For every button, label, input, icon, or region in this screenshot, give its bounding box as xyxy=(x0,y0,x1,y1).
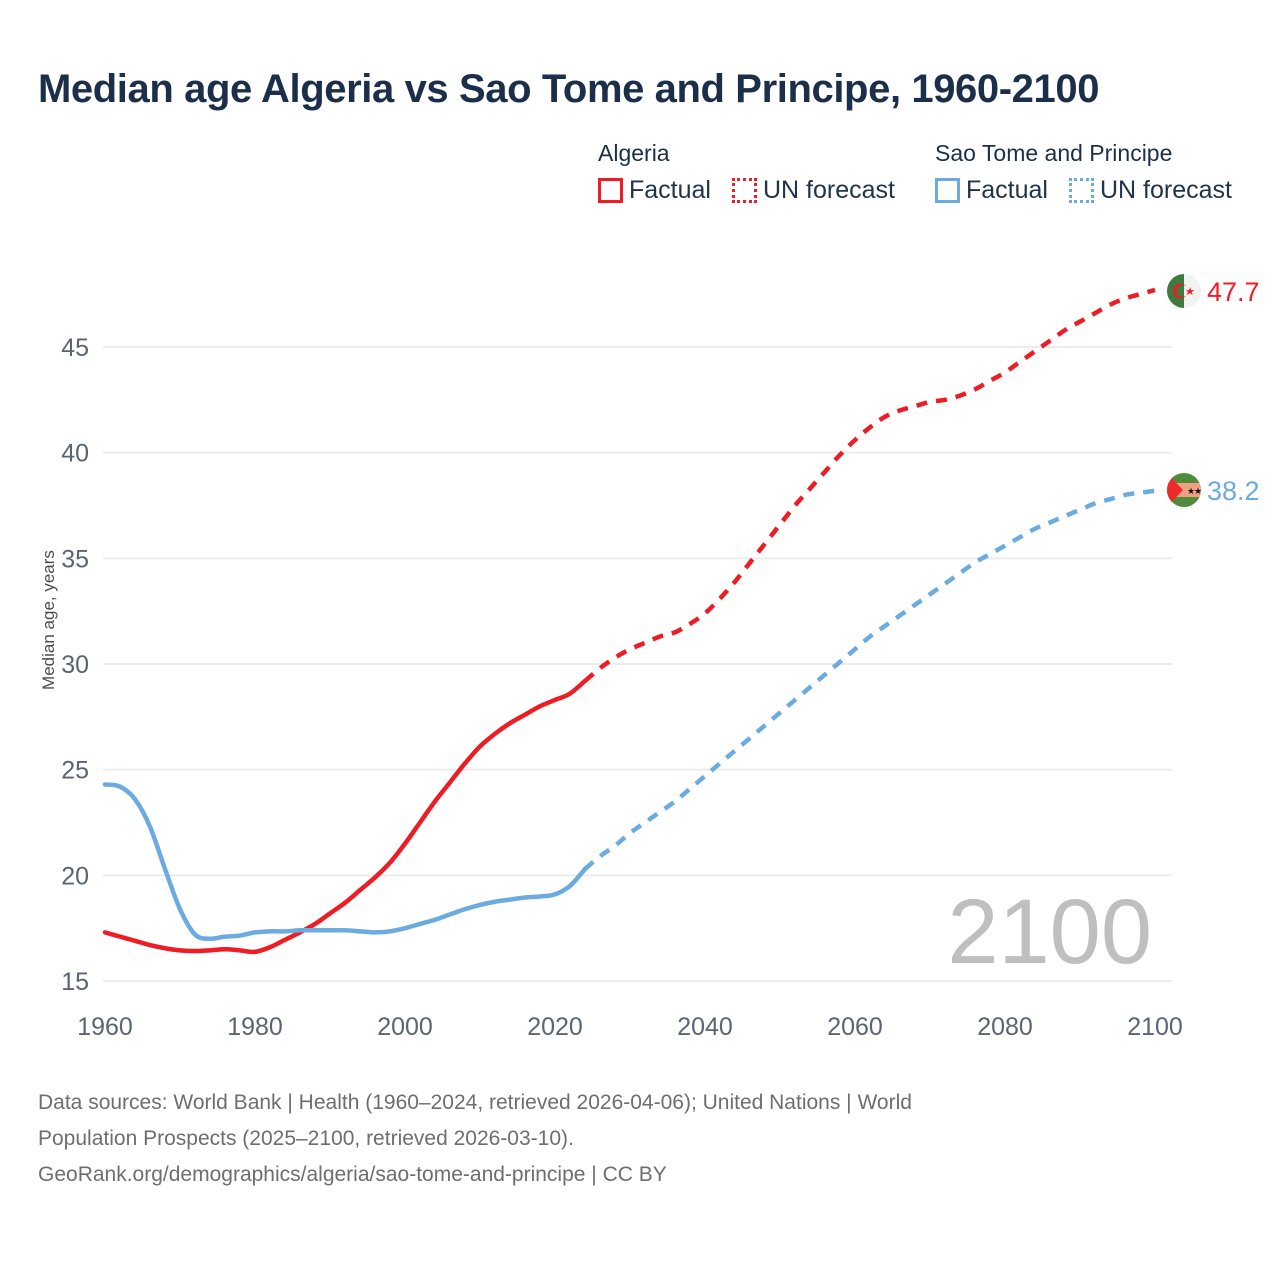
year-watermark: 2100 xyxy=(947,881,1152,983)
x-tick-label: 2080 xyxy=(977,1013,1033,1041)
series-lines xyxy=(105,290,1155,952)
footer-line-3: GeoRank.org/demographics/algeria/sao-tom… xyxy=(38,1158,1238,1192)
y-tick-label: 35 xyxy=(61,545,89,573)
x-axis-tick-labels: 19601980200020202040206020802100 xyxy=(77,1013,1183,1041)
y-tick-label: 45 xyxy=(61,334,89,362)
stp-end-value-label: 38.2 xyxy=(1207,476,1260,506)
y-tick-label: 15 xyxy=(61,968,89,996)
y-tick-label: 25 xyxy=(61,757,89,785)
svg-text:★: ★ xyxy=(1194,486,1202,496)
x-tick-label: 2020 xyxy=(527,1013,583,1041)
line-factual-algeria xyxy=(105,681,585,952)
x-tick-label: 1960 xyxy=(77,1013,133,1041)
x-tick-label: 2060 xyxy=(827,1013,883,1041)
line-forecast-sao-tome-and-principe xyxy=(585,491,1155,869)
y-tick-label: 40 xyxy=(61,440,89,468)
x-tick-label: 2000 xyxy=(377,1013,433,1041)
x-tick-label: 2100 xyxy=(1127,1013,1183,1041)
line-forecast-algeria xyxy=(585,290,1155,681)
x-tick-label: 1980 xyxy=(227,1013,283,1041)
y-tick-label: 30 xyxy=(61,651,89,679)
y-tick-label: 20 xyxy=(61,862,89,890)
footer-line-2: Population Prospects (2025–2100, retriev… xyxy=(38,1122,1238,1156)
x-tick-label: 2040 xyxy=(677,1013,733,1041)
algeria-end-value-label: 47.7 xyxy=(1207,277,1260,307)
footer-sources: Data sources: World Bank | Health (1960–… xyxy=(38,1086,1238,1192)
chart-page: Median age Algeria vs Sao Tome and Princ… xyxy=(0,0,1280,1280)
line-factual-sao-tome-and-principe xyxy=(105,784,585,938)
y-axis-title: Median age, years xyxy=(39,550,58,690)
svg-text:★: ★ xyxy=(1185,286,1195,298)
y-axis-tick-labels: 15202530354045 xyxy=(61,334,89,996)
algeria-flag-marker: ★ xyxy=(1167,274,1201,308)
footer-line-1: Data sources: World Bank | Health (1960–… xyxy=(38,1086,1238,1120)
sao-tome-and-principe-flag-marker: ★ ★ xyxy=(1167,473,1202,507)
